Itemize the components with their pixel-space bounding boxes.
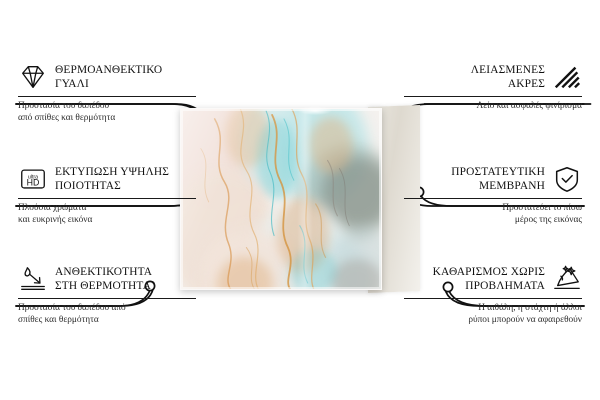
feature-header: ultra HD ΕΚΤΥΠΩΣΗ ΥΨΗΛΗΣ ΠΟΙΟΤΗΤΑΣ <box>18 164 196 194</box>
feature-title: ΛΕΙΑΣΜΕΝΕΣ ΑΚΡΕΣ <box>471 63 545 92</box>
feature-description: Προστασία του δαπέδου από σπίθες και θερ… <box>18 101 196 124</box>
feature-desc-line1: Προστατεύει το πίσω <box>404 203 582 215</box>
feature-title-line2: ΑΚΡΕΣ <box>471 77 545 92</box>
feature-desc-line1: Προστασία του δαπέδου από <box>18 303 196 315</box>
feature-desc-line1: Λείο και ασφαλές φινίρισμα <box>404 101 582 113</box>
feature-desc-line1: Προστασία του δαπέδου <box>18 101 196 113</box>
feature-header: ΚΑΘΑΡΙΣΜΟΣ ΧΩΡΙΣ ΠΡΟΒΛΗΜΑΤΑ <box>404 264 582 294</box>
feature-desc-line2: σπίθες και θερμότητα <box>18 315 196 327</box>
feature-heat-durability: ΑΝΘΕΚΤΙΚΟΤΗΤΑ ΣΤΗ ΘΕΡΜΟΤΗΤΑ Προστασία το… <box>18 264 196 326</box>
feature-title-line1: ΛΕΙΑΣΜΕΝΕΣ <box>471 63 545 78</box>
feature-desc-line2: ρύποι μπορούν να αφαιρεθούν <box>404 315 582 327</box>
feature-title: ΚΑΘΑΡΙΣΜΟΣ ΧΩΡΙΣ ΠΡΟΒΛΗΜΑΤΑ <box>433 265 545 294</box>
glass-panel <box>180 108 382 290</box>
ultra-hd-icon-label-bottom: HD <box>27 178 40 188</box>
feature-divider <box>18 96 196 97</box>
feature-header: ΘΕΡΜΟΑΝΘΕΚΤΙΚΟ ΓΥΑΛΙ <box>18 62 196 92</box>
feature-description: Λείο και ασφαλές φινίρισμα <box>404 101 582 113</box>
product-image <box>180 108 420 292</box>
feature-title: ΕΚΤΥΠΩΣΗ ΥΨΗΛΗΣ ΠΟΙΟΤΗΤΑΣ <box>55 165 169 194</box>
feature-description: Προστασία του δαπέδου από σπίθες και θερ… <box>18 303 196 326</box>
feature-title-line2: ΠΡΟΒΛΗΜΑΤΑ <box>433 279 545 294</box>
feature-title-line2: ΣΤΗ ΘΕΡΜΟΤΗΤΑ <box>55 279 152 294</box>
feature-high-quality-print: ultra HD ΕΚΤΥΠΩΣΗ ΥΨΗΛΗΣ ΠΟΙΟΤΗΤΑΣ Πλούσ… <box>18 164 196 226</box>
feature-desc-line2: και ευκρινής εικόνα <box>18 215 196 227</box>
feature-title-line1: ΘΕΡΜΟΑΝΘΕΚΤΙΚΟ <box>55 63 162 78</box>
feature-desc-line1: Η αιθάλη, η στάχτη ή άλλοι <box>404 303 582 315</box>
feature-desc-line2: μέρος της εικόνας <box>404 215 582 227</box>
feature-desc-line1: Πλούσια χρώματα <box>18 203 196 215</box>
marble-veins <box>181 109 381 289</box>
feature-title: ΠΡΟΣΤΑΤΕΥΤΙΚΗ ΜΕΜΒΡΑΝΗ <box>451 165 545 194</box>
feature-divider <box>18 198 196 199</box>
feature-description: Η αιθάλη, η στάχτη ή άλλοι ρύποι μπορούν… <box>404 303 582 326</box>
infographic-canvas: ΘΕΡΜΟΑΝΘΕΚΤΙΚΟ ΓΥΑΛΙ Προστασία του δαπέδ… <box>0 0 600 400</box>
feature-desc-line2: από σπίθες και θερμότητα <box>18 113 196 125</box>
feature-heat-resistant-glass: ΘΕΡΜΟΑΝΘΕΚΤΙΚΟ ΓΥΑΛΙ Προστασία του δαπέδ… <box>18 62 196 124</box>
feature-title-line1: ΚΑΘΑΡΙΣΜΟΣ ΧΩΡΙΣ <box>433 265 545 280</box>
feature-easy-cleaning: ΚΑΘΑΡΙΣΜΟΣ ΧΩΡΙΣ ΠΡΟΒΛΗΜΑΤΑ Η αιθάλη, η … <box>404 264 582 326</box>
polished-edges-icon <box>552 62 582 92</box>
feature-title-line1: ΕΚΤΥΠΩΣΗ ΥΨΗΛΗΣ <box>55 165 169 180</box>
heat-resistant-icon <box>18 264 48 294</box>
feature-title-line1: ΑΝΘΕΚΤΙΚΟΤΗΤΑ <box>55 265 152 280</box>
feature-divider <box>404 96 582 97</box>
feature-title-line2: ΜΕΜΒΡΑΝΗ <box>451 179 545 194</box>
feature-title-line2: ΓΥΑΛΙ <box>55 77 162 92</box>
feature-description: Προστατεύει το πίσω μέρος της εικόνας <box>404 203 582 226</box>
ultra-hd-icon: ultra HD <box>18 164 48 194</box>
feature-description: Πλούσια χρώματα και ευκρινής εικόνα <box>18 203 196 226</box>
feature-divider <box>18 298 196 299</box>
feature-header: ΛΕΙΑΣΜΕΝΕΣ ΑΚΡΕΣ <box>404 62 582 92</box>
feature-header: ΑΝΘΕΚΤΙΚΟΤΗΤΑ ΣΤΗ ΘΕΡΜΟΤΗΤΑ <box>18 264 196 294</box>
feature-divider <box>404 198 582 199</box>
feature-divider <box>404 298 582 299</box>
feature-title-line2: ΠΟΙΟΤΗΤΑΣ <box>55 179 169 194</box>
shield-check-icon <box>552 164 582 194</box>
feature-polished-edges: ΛΕΙΑΣΜΕΝΕΣ ΑΚΡΕΣ Λείο και ασφαλές φινίρι… <box>404 62 582 113</box>
easy-clean-sponge-icon <box>552 264 582 294</box>
feature-title: ΑΝΘΕΚΤΙΚΟΤΗΤΑ ΣΤΗ ΘΕΡΜΟΤΗΤΑ <box>55 265 152 294</box>
feature-protective-membrane: ΠΡΟΣΤΑΤΕΥΤΙΚΗ ΜΕΜΒΡΑΝΗ Προστατεύει το πί… <box>404 164 582 226</box>
feature-header: ΠΡΟΣΤΑΤΕΥΤΙΚΗ ΜΕΜΒΡΑΝΗ <box>404 164 582 194</box>
feature-title: ΘΕΡΜΟΑΝΘΕΚΤΙΚΟ ΓΥΑΛΙ <box>55 63 162 92</box>
feature-title-line1: ΠΡΟΣΤΑΤΕΥΤΙΚΗ <box>451 165 545 180</box>
diamond-icon <box>18 62 48 92</box>
